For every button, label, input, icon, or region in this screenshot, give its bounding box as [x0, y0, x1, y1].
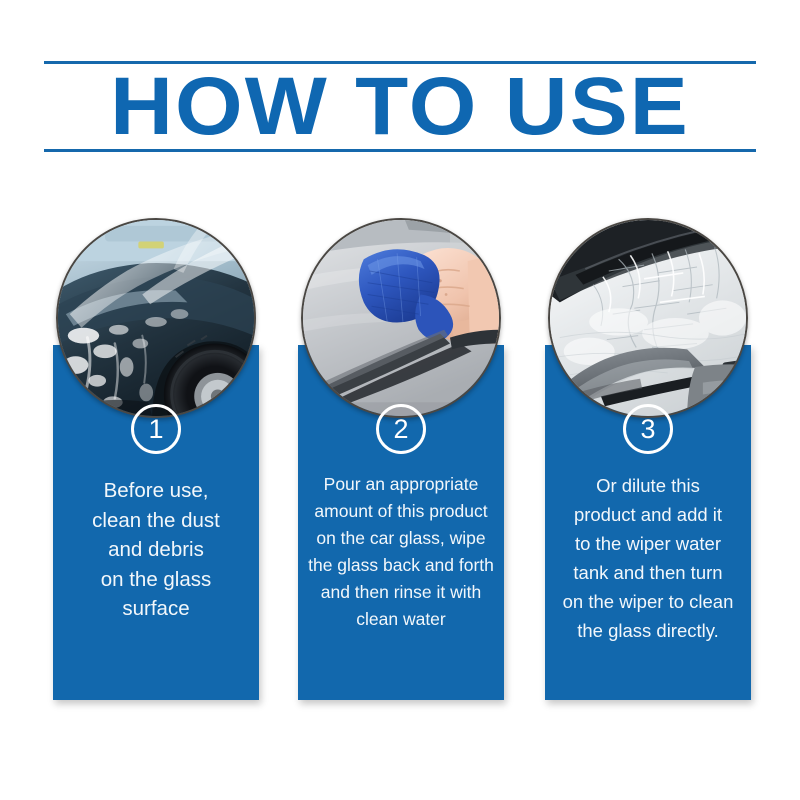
- caption-line: to the wiper water: [551, 529, 745, 558]
- frosted-windshield-illustration: [550, 220, 746, 416]
- caption-line: tank and then turn: [551, 558, 745, 587]
- caption-line: surface: [59, 594, 253, 624]
- hand-wiping-windshield-photo: [301, 218, 501, 418]
- caption-line: on the wiper to clean: [551, 587, 745, 616]
- hand-wiping-windshield-illustration: [303, 220, 499, 416]
- step-card-1: 1 Before use, clean the dust and debris …: [53, 218, 259, 700]
- caption-line: Or dilute this: [551, 471, 745, 500]
- step-number-badge-3: 3: [623, 404, 673, 454]
- caption-line: and debris: [59, 535, 253, 565]
- caption-line: Pour an appropriate: [304, 471, 498, 498]
- frosted-windshield-photo: [548, 218, 748, 418]
- car-wash-foam-illustration: [58, 220, 254, 416]
- caption-line: clean water: [304, 606, 498, 633]
- car-wash-foam-photo: [56, 218, 256, 418]
- step-number-1: 1: [148, 416, 163, 443]
- caption-line: amount of this product: [304, 498, 498, 525]
- caption-line: product and add it: [551, 500, 745, 529]
- caption-line: the glass back and forth: [304, 552, 498, 579]
- steps-row: 1 Before use, clean the dust and debris …: [0, 0, 800, 800]
- caption-line: Before use,: [59, 476, 253, 506]
- step-number-badge-1: 1: [131, 404, 181, 454]
- caption-line: on the glass: [59, 565, 253, 595]
- caption-line: and then rinse it with: [304, 579, 498, 606]
- step-number-badge-2: 2: [376, 404, 426, 454]
- caption-line: on the car glass, wipe: [304, 525, 498, 552]
- step-card-3: 3 Or dilute this product and add it to t…: [545, 218, 751, 700]
- step-number-3: 3: [640, 416, 655, 443]
- caption-line: the glass directly.: [551, 616, 745, 645]
- step-1-caption: Before use, clean the dust and debris on…: [59, 476, 253, 624]
- caption-line: clean the dust: [59, 506, 253, 536]
- step-card-2: 2 Pour an appropriate amount of this pro…: [298, 218, 504, 700]
- step-2-caption: Pour an appropriate amount of this produ…: [304, 471, 498, 633]
- step-number-2: 2: [393, 416, 408, 443]
- step-3-caption: Or dilute this product and add it to the…: [551, 471, 745, 645]
